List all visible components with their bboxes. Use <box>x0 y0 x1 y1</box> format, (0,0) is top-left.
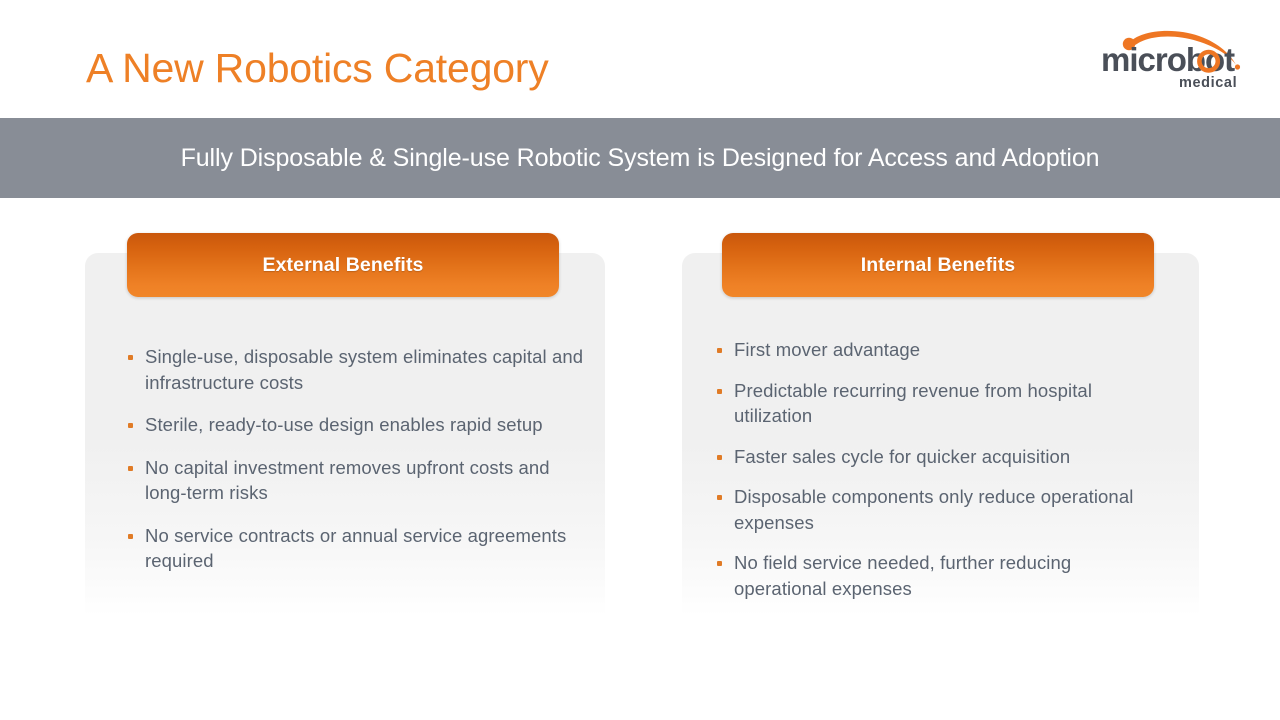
list-item: Single-use, disposable system eliminates… <box>128 344 587 395</box>
bullet-dot-icon <box>128 423 133 428</box>
list-item: No service contracts or annual service a… <box>128 523 587 574</box>
internal-benefits-card: Internal Benefits First mover advantage … <box>682 253 1199 615</box>
list-item: No capital investment removes upfront co… <box>128 455 587 506</box>
external-benefits-card: External Benefits Single-use, disposable… <box>85 253 605 615</box>
list-item: Disposable components only reduce operat… <box>717 484 1185 535</box>
subtitle-banner: Fully Disposable & Single-use Robotic Sy… <box>0 118 1280 198</box>
list-item: Faster sales cycle for quicker acquisiti… <box>717 444 1185 470</box>
list-item: No field service needed, further reducin… <box>717 550 1185 601</box>
bullet-dot-icon <box>717 455 722 460</box>
list-item-text: First mover advantage <box>734 337 920 363</box>
microbot-medical-logo: microbot medical <box>1095 22 1267 90</box>
bullet-dot-icon <box>128 534 133 539</box>
internal-benefits-header-label: Internal Benefits <box>861 254 1015 277</box>
external-benefits-header: External Benefits <box>127 233 559 297</box>
external-benefits-header-label: External Benefits <box>262 254 423 277</box>
list-item-text: No field service needed, further reducin… <box>734 550 1164 601</box>
logo-artwork: microbot medical <box>1095 22 1267 90</box>
list-item: First mover advantage <box>717 337 1185 363</box>
slide-canvas: A New Robotics Category microbot medical… <box>0 0 1280 720</box>
page-title: A New Robotics Category <box>86 44 549 92</box>
list-item-text: Predictable recurring revenue from hospi… <box>734 378 1164 429</box>
list-item-text: Single-use, disposable system eliminates… <box>145 344 585 395</box>
external-benefits-list: Single-use, disposable system eliminates… <box>85 344 605 591</box>
internal-benefits-list: First mover advantage Predictable recurr… <box>682 337 1199 616</box>
bullet-dot-icon <box>717 389 722 394</box>
logo-wordmark: microbot <box>1101 41 1235 78</box>
list-item: Sterile, ready-to-use design enables rap… <box>128 412 587 438</box>
bullet-dot-icon <box>128 355 133 360</box>
list-item-text: Sterile, ready-to-use design enables rap… <box>145 412 543 438</box>
bullet-dot-icon <box>717 561 722 566</box>
swoosh-tail-icon <box>1235 64 1240 69</box>
list-item-text: Disposable components only reduce operat… <box>734 484 1164 535</box>
subtitle-banner-text: Fully Disposable & Single-use Robotic Sy… <box>181 144 1100 173</box>
bullet-dot-icon <box>717 348 722 353</box>
internal-benefits-header: Internal Benefits <box>722 233 1154 297</box>
bullet-dot-icon <box>717 495 722 500</box>
list-item-text: No capital investment removes upfront co… <box>145 455 585 506</box>
list-item-text: Faster sales cycle for quicker acquisiti… <box>734 444 1070 470</box>
list-item-text: No service contracts or annual service a… <box>145 523 585 574</box>
logo-tagline: medical <box>1179 75 1237 90</box>
list-item: Predictable recurring revenue from hospi… <box>717 378 1185 429</box>
bullet-dot-icon <box>128 466 133 471</box>
